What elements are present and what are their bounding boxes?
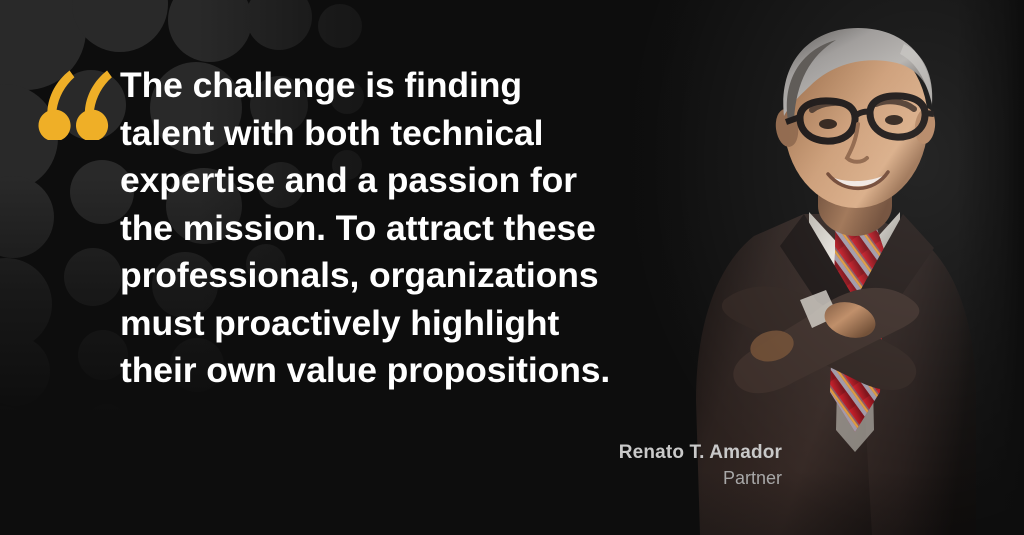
background-circle: [0, 406, 34, 470]
attribution: Renato T. Amador Partner: [420, 440, 782, 491]
quote-line: talent with both technical: [120, 110, 634, 158]
quote-block: The challenge is finding talent with bot…: [34, 62, 634, 395]
quote-line: the mission. To attract these: [120, 205, 634, 253]
quote-line: must proactively highlight: [120, 300, 634, 348]
author-name: Renato T. Amador: [420, 440, 782, 465]
quote-line: their own value propositions.: [120, 347, 634, 395]
background-circle: [318, 4, 362, 48]
quote-line: professionals, organizations: [120, 252, 634, 300]
background-circle: [86, 404, 128, 446]
quote-card: The challenge is finding talent with bot…: [0, 0, 1024, 535]
quote-line: expertise and a passion for: [120, 157, 634, 205]
background-circle: [246, 0, 312, 50]
author-role: Partner: [420, 465, 782, 491]
background-circle: [168, 0, 252, 62]
background-circle: [72, 0, 168, 52]
quote-text: The challenge is finding talent with bot…: [34, 62, 634, 395]
quote-line: The challenge is finding: [120, 62, 634, 110]
quotation-mark-icon: [34, 70, 112, 140]
